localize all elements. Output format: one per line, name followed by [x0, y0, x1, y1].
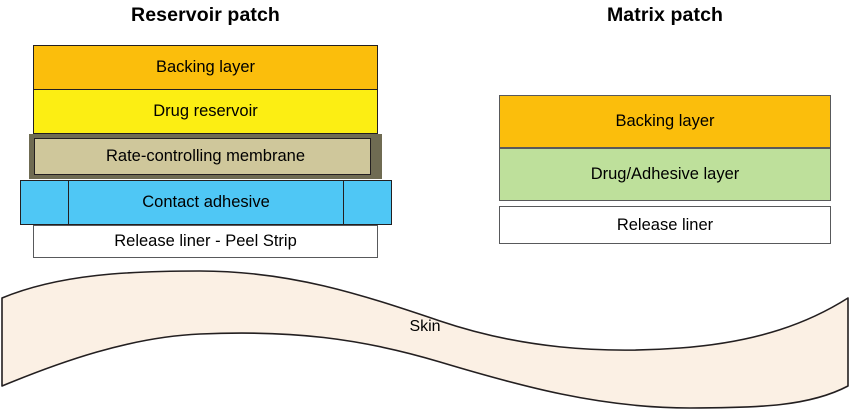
- matrix-layer-backing-label: Backing layer: [615, 113, 714, 130]
- matrix-layer-backing: Backing layer: [499, 95, 831, 148]
- matrix-layer-drug-adhesive-label: Drug/Adhesive layer: [591, 166, 740, 183]
- matrix-panel-title: Matrix patch: [499, 4, 831, 27]
- reservoir-layer-release-liner: Release liner - Peel Strip: [33, 225, 378, 258]
- adhesive-divider-left: [68, 181, 69, 224]
- skin-band: Skin: [0, 266, 850, 411]
- reservoir-layer-contact-adhesive: Contact adhesive: [20, 180, 392, 225]
- patch-diagram: Reservoir patch Matrix patch Backing lay…: [0, 0, 850, 411]
- reservoir-layer-rate-controlling-membrane: Rate-controlling membrane: [29, 134, 382, 179]
- reservoir-layer-release-liner-label: Release liner - Peel Strip: [114, 233, 297, 250]
- reservoir-layer-drug-reservoir: Drug reservoir: [33, 90, 378, 134]
- reservoir-layer-drug-reservoir-label: Drug reservoir: [153, 103, 258, 120]
- matrix-layer-release-liner: Release liner: [499, 206, 831, 244]
- matrix-layer-drug-adhesive: Drug/Adhesive layer: [499, 148, 831, 201]
- matrix-layer-release-liner-label: Release liner: [617, 217, 713, 234]
- reservoir-layer-backing: Backing layer: [33, 45, 378, 90]
- reservoir-layer-contact-adhesive-label: Contact adhesive: [142, 194, 270, 211]
- adhesive-divider-right: [343, 181, 344, 224]
- reservoir-layer-backing-label: Backing layer: [156, 59, 255, 76]
- reservoir-layer-rate-controlling-membrane-label: Rate-controlling membrane: [106, 147, 305, 166]
- reservoir-panel-title: Reservoir patch: [33, 4, 378, 27]
- skin-label: Skin: [0, 318, 850, 336]
